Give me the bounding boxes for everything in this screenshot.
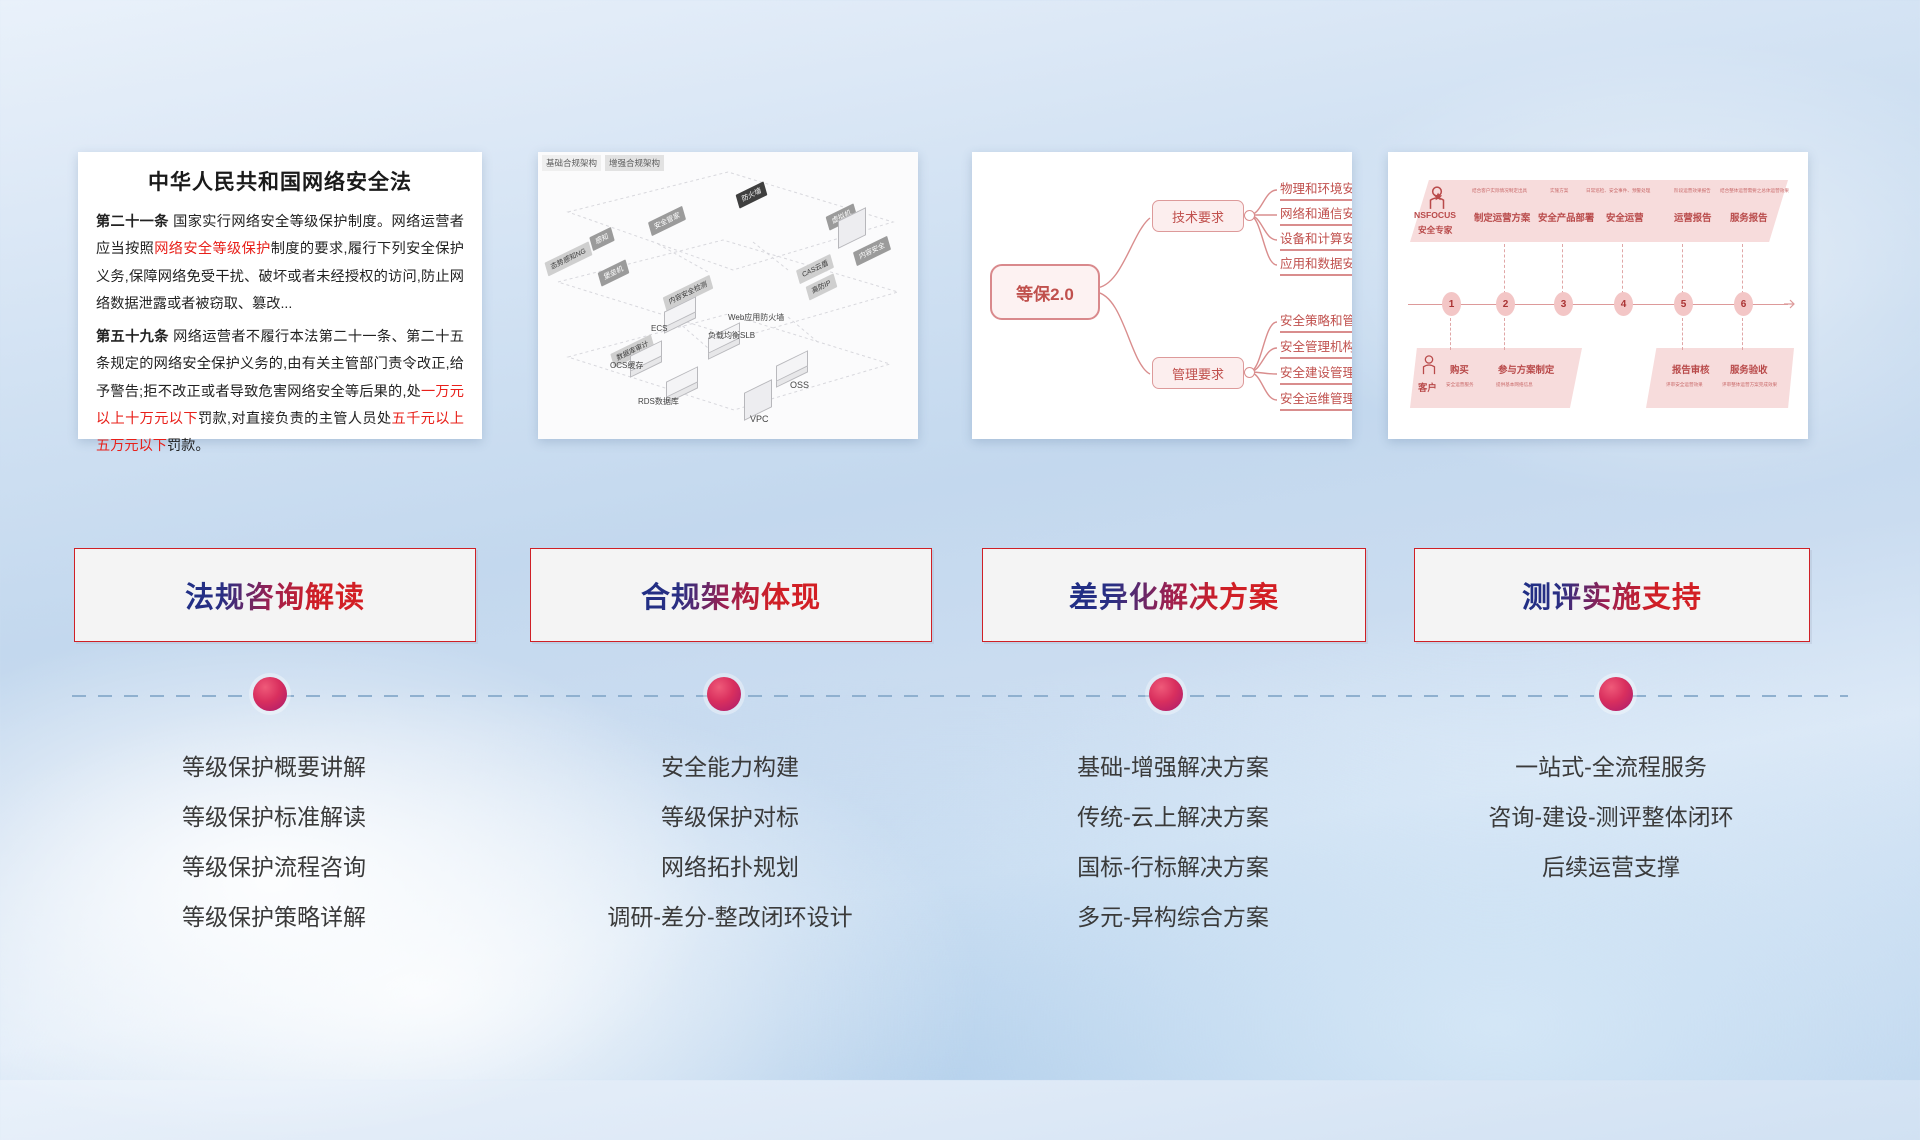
card-cybersecurity-law[interactable]: 中华人民共和国网络安全法 第二十一条 国家实行网络安全等级保护制度。网络运营者应… — [78, 152, 482, 439]
top-step-3-title: 安全运营 — [1606, 210, 1644, 224]
top-cards-row: 中华人民共和国网络安全法 第二十一条 国家实行网络安全等级保护制度。网络运营者应… — [0, 152, 1920, 440]
bottom-step-3-sub: 评审安全运营效果 — [1666, 382, 1703, 388]
arch-label-oss: OSS — [790, 380, 809, 390]
list-item: 基础-增强解决方案 — [982, 742, 1364, 792]
timeline-marker-4[interactable] — [1599, 677, 1633, 711]
timeline-axis — [1408, 304, 1788, 305]
top-step-2-sub: 实施方案 — [1550, 188, 1568, 194]
list-item: 咨询-建设-测评整体闭环 — [1414, 792, 1808, 842]
timeline-node-1[interactable]: 1 — [1442, 292, 1461, 316]
section-list-4: 一站式-全流程服务 咨询-建设-测评整体闭环 后续运营支撑 — [1414, 742, 1808, 892]
list-item: 等级保护概要讲解 — [74, 742, 474, 792]
timeline-dash-4 — [1622, 244, 1624, 294]
list-item: 等级保护流程咨询 — [74, 842, 474, 892]
law-article-21: 第二十一条 国家实行网络安全等级保护制度。网络运营者应当按照网络安全等级保护制度… — [96, 209, 464, 318]
list-item: 国标-行标解决方案 — [982, 842, 1364, 892]
timeline-dash-b3 — [1682, 318, 1684, 350]
timeline-node-5[interactable]: 5 — [1674, 292, 1693, 316]
mindmap-leaf-app-data: 应用和数据安全 — [1280, 253, 1352, 276]
bottom-step-4-sub: 评审整体运营方案完成效果 — [1722, 382, 1777, 388]
timeline-dash-6 — [1742, 244, 1744, 294]
article-59-label: 第五十九条 — [96, 329, 169, 345]
section-title-1: 法规咨询解读 — [185, 574, 365, 616]
bottom-step-1-sub: 安全运营服务 — [1446, 382, 1474, 388]
timeline-node-4[interactable]: 4 — [1614, 292, 1633, 316]
arch-label-waf: Web应用防火墙 — [728, 312, 784, 323]
section-titles-row: 法规咨询解读 合规架构体现 差异化解决方案 测评实施支持 — [0, 548, 1920, 644]
top-step-4-sub: 阶段运营效果报告 — [1674, 188, 1711, 194]
mindmap-collapse-dot-management[interactable] — [1244, 367, 1255, 378]
mindmap-leaf-policy-system: 安全策略和管理制度 — [1280, 310, 1352, 333]
timeline-dashed-line — [72, 695, 1848, 697]
arch-label-rds: RDS数据库 — [638, 396, 679, 407]
customer-label: 客户 — [1418, 380, 1437, 394]
customer-person-icon — [1418, 354, 1440, 376]
timeline-marker-2[interactable] — [707, 677, 741, 711]
arch-label-ecs: ECS — [651, 324, 667, 333]
top-step-4-title: 运营报告 — [1674, 210, 1712, 224]
card-compliance-architecture[interactable]: 基础合规架构 增强合规架构 防火墙 安全管家 感知 态势感知NG 堡垒机 虚拟机… — [538, 152, 918, 439]
top-step-5-title: 服务报告 — [1730, 210, 1768, 224]
article-21-highlight: 网络安全等级保护 — [154, 241, 271, 257]
timeline-marker-3[interactable] — [1149, 677, 1183, 711]
list-item: 等级保护标准解读 — [74, 792, 474, 842]
mindmap-leaf-physical-env: 物理和环境安全 — [1280, 178, 1352, 201]
arch-label-vpc: VPC — [750, 414, 769, 424]
timeline-dash-5 — [1682, 244, 1684, 294]
top-step-5-sub: 结合整体运营需要之总体运营效果 — [1720, 188, 1789, 194]
mindmap-leaf-construction-mgmt: 安全建设管理 — [1280, 362, 1352, 385]
expert-label-brand: NSFOCUS — [1414, 210, 1456, 220]
card-mindmap-dengbao[interactable]: 等保2.0 技术要求 管理要求 物理和环境安全 网络和通信安全 设备和计算安全 … — [972, 152, 1352, 439]
top-step-1-title: 制定运营方案 — [1474, 210, 1530, 224]
list-item: 安全能力构建 — [530, 742, 930, 792]
arch-node-perception: 感知 — [589, 227, 614, 251]
bottom-step-1-title: 购买 — [1450, 362, 1469, 376]
mindmap-root-node: 等保2.0 — [990, 264, 1100, 320]
arch-shape-cylinder-ecs — [664, 304, 694, 326]
list-item: 等级保护策略详解 — [74, 892, 474, 942]
section-list-3: 基础-增强解决方案 传统-云上解决方案 国标-行标解决方案 多元-异构综合方案 — [982, 742, 1364, 942]
arch-node-content-security: 内容安全 — [853, 236, 891, 266]
section-title-box-2[interactable]: 合规架构体现 — [530, 548, 932, 642]
section-list-1: 等级保护概要讲解 等级保护标准解读 等级保护流程咨询 等级保护策略详解 — [74, 742, 474, 942]
timeline-marker-1[interactable] — [253, 677, 287, 711]
arch-node-security-butler: 安全管家 — [648, 206, 686, 236]
top-step-2-title: 安全产品部署 — [1538, 210, 1594, 224]
mindmap-collapse-dot-technical[interactable] — [1244, 210, 1255, 221]
list-item: 调研-差分-整改闭环设计 — [530, 892, 930, 942]
expert-person-icon — [1424, 185, 1450, 211]
arch-node-firewall: 防火墙 — [736, 181, 768, 208]
tab-basic-architecture[interactable]: 基础合规架构 — [542, 155, 601, 171]
mindmap-leaf-network-comm: 网络和通信安全 — [1280, 203, 1352, 226]
card-service-timeline[interactable]: NSFOCUS 安全专家 结合客户实际情况制定出具 制定运营方案 实施方案 安全… — [1388, 152, 1808, 439]
list-item: 多元-异构综合方案 — [982, 892, 1364, 942]
arch-node-bastion-host: 堡垒机 — [598, 259, 630, 286]
mindmap-branch-management: 管理要求 — [1152, 357, 1244, 389]
top-step-3-sub: 日常巡检、安全事件、预警处理 — [1586, 188, 1650, 194]
list-item: 传统-云上解决方案 — [982, 792, 1364, 842]
section-title-3: 差异化解决方案 — [1069, 574, 1279, 616]
timeline-dash-2 — [1504, 244, 1506, 294]
timeline-dash-b2 — [1504, 318, 1506, 350]
arch-label-ocs: OCS缓存 — [610, 360, 643, 371]
law-title: 中华人民共和国网络安全法 — [96, 166, 464, 196]
expert-label-role: 安全专家 — [1418, 224, 1452, 236]
arch-node-situational-awareness: 态势感知NG — [544, 242, 592, 277]
top-step-1-sub: 结合客户实际情况制定出具 — [1472, 188, 1527, 194]
mindmap-leaf-ops-mgmt: 安全运维管理 — [1280, 388, 1352, 411]
timeline-band-bottom-right — [1646, 348, 1794, 408]
timeline-dash-b4 — [1742, 318, 1744, 350]
list-item: 一站式-全流程服务 — [1414, 742, 1808, 792]
section-title-box-1[interactable]: 法规咨询解读 — [74, 548, 476, 642]
mindmap-leaf-device-compute: 设备和计算安全 — [1280, 228, 1352, 251]
article-21-label: 第二十一条 — [96, 214, 169, 230]
section-title-4: 测评实施支持 — [1522, 574, 1702, 616]
bottom-step-3-title: 报告审核 — [1672, 362, 1710, 376]
section-list-2: 安全能力构建 等级保护对标 网络拓扑规划 调研-差分-整改闭环设计 — [530, 742, 930, 942]
architecture-tabs[interactable]: 基础合规架构 增强合规架构 — [542, 155, 664, 171]
architecture-nodes: 防火墙 安全管家 感知 态势感知NG 堡垒机 虚拟机 内容安全 内容安全检测 C… — [538, 152, 918, 439]
section-title-2: 合规架构体现 — [641, 574, 821, 616]
timeline-node-2[interactable]: 2 — [1496, 292, 1515, 316]
arch-shape-cylinder-rds — [666, 374, 696, 396]
article-59-text-b: 罚款,对直接负责的主管人员处 — [198, 411, 392, 427]
article-59-text-c: 罚款。 — [167, 438, 210, 454]
bottom-step-4-title: 服务验收 — [1730, 362, 1768, 376]
arch-shape-cylinder-oss — [776, 358, 806, 380]
bottom-step-2-title: 参与方案制定 — [1498, 362, 1554, 376]
section-title-box-4[interactable]: 测评实施支持 — [1414, 548, 1810, 642]
timeline-arrow-icon — [1784, 297, 1798, 311]
bottom-step-2-sub: 提供基本网络信息 — [1496, 382, 1533, 388]
timeline-dash-3 — [1562, 244, 1564, 294]
timeline-dash-b1 — [1450, 318, 1452, 350]
mindmap-branch-technical: 技术要求 — [1152, 200, 1244, 232]
timeline-node-6[interactable]: 6 — [1734, 292, 1753, 316]
timeline-node-3[interactable]: 3 — [1554, 292, 1573, 316]
list-item: 网络拓扑规划 — [530, 842, 930, 892]
list-item: 等级保护对标 — [530, 792, 930, 842]
law-article-59: 第五十九条 网络运营者不履行本法第二十一条、第二十五条规定的网络安全保护义务的,… — [96, 324, 464, 460]
section-title-box-3[interactable]: 差异化解决方案 — [982, 548, 1366, 642]
tab-enhanced-architecture[interactable]: 增强合规架构 — [605, 155, 664, 171]
arch-label-slb: 负载均衡SLB — [708, 330, 755, 341]
list-item: 后续运营支撑 — [1414, 842, 1808, 892]
mindmap-leaf-org-personnel: 安全管理机构和人员 — [1280, 336, 1352, 359]
